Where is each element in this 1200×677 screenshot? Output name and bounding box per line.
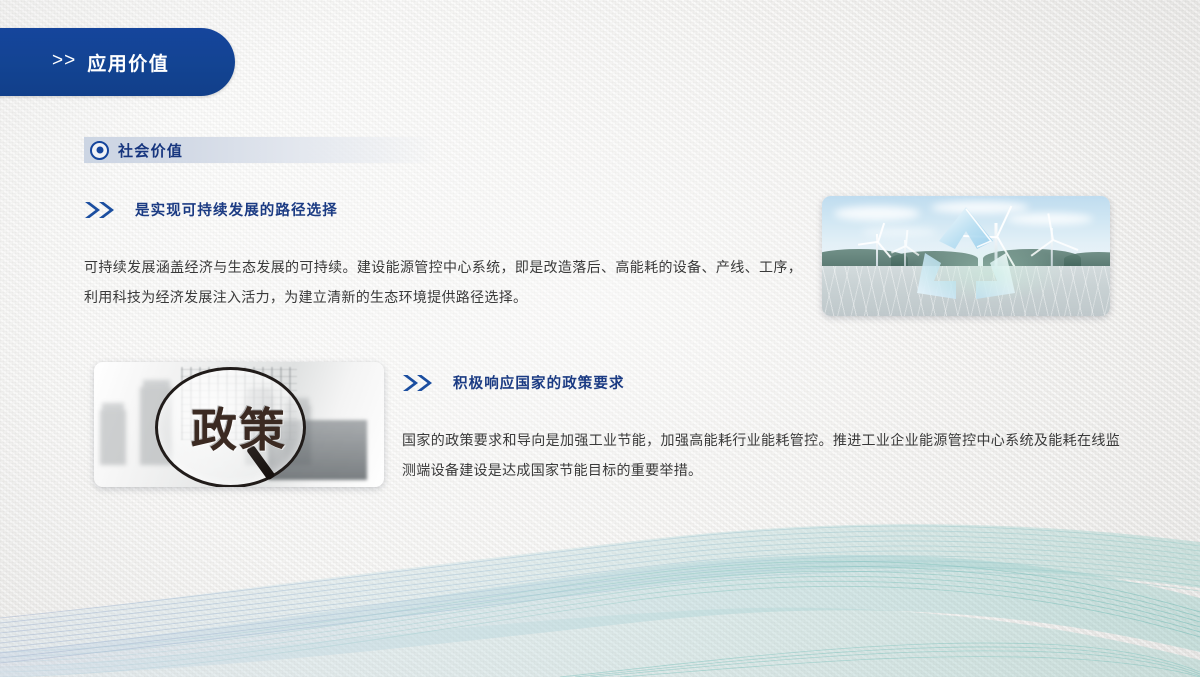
wave-band — [0, 555, 1200, 677]
tab-title: 应用价值 — [87, 49, 169, 76]
page-vignette — [0, 0, 1200, 677]
policy-word-text: 政策 — [191, 394, 287, 460]
double-chevron-right-icon — [84, 201, 118, 219]
section-header-title: 社会价值 — [118, 140, 183, 161]
block-heading-text: 积极响应国家的政策要求 — [453, 372, 625, 393]
block-heading-text: 是实现可持续发展的路径选择 — [135, 199, 338, 220]
wave-band — [0, 608, 1200, 677]
wave-line-group — [0, 561, 1200, 677]
recycling-wind-turbines-photo — [822, 196, 1110, 316]
wave-line-group — [0, 526, 1200, 663]
block-body-sustainable-path: 可持续发展涵盖经济与生态发展的可持续。建设能源管控中心系统，即是改造落后、高能耗… — [84, 252, 802, 312]
section-header-social-value: 社会价值 — [84, 137, 439, 163]
double-chevron-right-icon: >> — [52, 50, 76, 72]
target-dot-icon — [90, 141, 109, 160]
flowing-wave-ribbons — [0, 502, 1200, 677]
double-chevron-right-icon — [402, 374, 436, 392]
wave-line-group — [560, 643, 1200, 677]
block-body-policy-response: 国家的政策要求和导向是加强工业节能，加强高能耗行业能耗管控。推进工业企业能源管控… — [402, 425, 1120, 485]
glow-highlight — [908, 244, 1066, 302]
wave-band — [0, 524, 1200, 662]
block-heading-policy-response: 积极响应国家的政策要求 — [402, 372, 625, 393]
building-shape — [100, 410, 126, 465]
section-tab-application-value[interactable]: >> 应用价值 — [0, 28, 235, 96]
photo-canvas: 政策 — [94, 362, 384, 487]
block-heading-sustainable-path: 是实现可持续发展的路径选择 — [84, 199, 338, 220]
tab-inner: >> 应用价值 — [0, 49, 169, 76]
policy-magnifier-photo: 政策 — [94, 362, 384, 487]
page-background-texture — [0, 0, 1200, 677]
photo-canvas — [822, 196, 1110, 316]
